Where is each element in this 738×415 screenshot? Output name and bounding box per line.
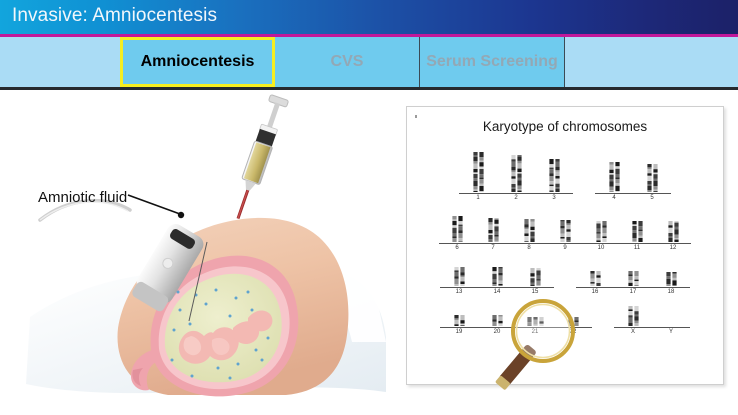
karyotype-pair-8: 8 <box>511 219 547 251</box>
karyotype-pair-13: 13 <box>440 267 478 295</box>
karyotype-pair-5: 5 <box>633 164 671 201</box>
chromosome-pair <box>473 152 484 192</box>
karyotype-panel: Karyotype of chromosomes 123456789101112… <box>406 106 724 385</box>
karyotype-baseline <box>583 243 619 244</box>
karyotype-baseline <box>595 193 633 194</box>
karyotype-baseline <box>440 287 478 288</box>
chromosome-pair <box>628 271 639 286</box>
chromosome-pair <box>492 315 503 326</box>
karyotype-number-label: X <box>631 329 635 335</box>
tab-amniocentesis-label: Amniocentesis <box>141 53 255 70</box>
karyotype-row: 131415161718 <box>407 251 723 295</box>
karyotype-baseline <box>655 243 691 244</box>
karyotype-pair-1: 1 <box>459 152 497 201</box>
chromosome-pair <box>511 155 522 192</box>
karyotype-number-label: 20 <box>494 329 501 335</box>
karyotype-baseline <box>554 327 592 328</box>
karyotype-baseline <box>475 243 511 244</box>
karyotype-number-label: Y <box>669 329 673 335</box>
chromosome-pair <box>452 216 463 242</box>
karyotype-baseline <box>511 243 547 244</box>
karyotype-pair-11: 11 <box>619 221 655 251</box>
karyotype-pair-15: 15 <box>516 268 554 295</box>
karyotype-baseline <box>633 193 671 194</box>
chromosome-pair <box>647 164 658 192</box>
tab-serum-screening-label: Serum Screening <box>426 53 558 70</box>
chromosome-pair <box>609 162 620 192</box>
karyotype-pair-14: 14 <box>478 267 516 295</box>
syringe-graphic <box>229 94 289 221</box>
karyotype-pair-9: 9 <box>547 220 583 251</box>
slide-root: Invasive: Amniocentesis Amniocentesis CV… <box>0 0 738 415</box>
chromosome-pair <box>530 268 541 286</box>
tab-cvs-label: CVS <box>331 53 364 70</box>
slide-title-bar: Invasive: Amniocentesis <box>0 0 738 34</box>
chromosome-pair <box>560 220 571 242</box>
karyotype-number-label: 22 <box>570 329 577 335</box>
karyotype-baseline <box>440 327 478 328</box>
chromosome-pair <box>666 272 677 286</box>
karyotype-baseline <box>619 243 655 244</box>
chromosome-pair <box>568 317 579 326</box>
navigation-tab-bar: Amniocentesis CVS Serum Screening <box>0 37 738 87</box>
karyotype-baseline <box>614 327 652 328</box>
karyotype-pair-3: 3 <box>535 159 573 201</box>
karyotype-baseline <box>478 287 516 288</box>
karyotype-pair-20: 20 <box>478 315 516 335</box>
karyotype-pair-19: 19 <box>440 315 478 335</box>
karyotype-row: 19202122XY <box>407 295 723 335</box>
karyotype-pair-18: 18 <box>652 272 690 295</box>
karyotype-pair-16: 16 <box>576 271 614 295</box>
chromosome-pair <box>632 221 643 242</box>
tab-serum-screening[interactable]: Serum Screening <box>420 37 565 87</box>
chromosome-pair <box>454 267 465 286</box>
tab-spacer-right <box>565 37 738 87</box>
chromosome-pair <box>549 159 560 192</box>
karyotype-baseline <box>576 287 614 288</box>
karyotype-baseline <box>516 327 554 328</box>
karyotype-row: 6789101112 <box>407 201 723 251</box>
amniotic-fluid-leader-line <box>128 195 184 218</box>
karyotype-pair-6: 6 <box>439 216 475 251</box>
karyotype-pair-2: 2 <box>497 155 535 201</box>
karyotype-baseline <box>652 287 690 288</box>
tab-bar-bottom-rule <box>0 87 738 90</box>
amniocentesis-illustration <box>0 92 400 415</box>
karyotype-pair-21: 21 <box>516 317 554 335</box>
karyotype-pair-17: 17 <box>614 271 652 295</box>
chromosome-pair <box>590 271 601 286</box>
chromosome-pair <box>596 221 607 242</box>
karyotype-baseline <box>614 287 652 288</box>
karyotype-baseline <box>459 193 497 194</box>
karyotype-rows: 12345678910111213141516171819202122XY <box>407 149 723 335</box>
chromosome-pair <box>628 306 639 326</box>
karyotype-pair-10: 10 <box>583 221 619 251</box>
tab-cvs[interactable]: CVS <box>275 37 420 87</box>
karyotype-baseline <box>547 243 583 244</box>
panel-corner-mark <box>415 115 417 118</box>
karyotype-pair-Y: Y <box>652 326 690 335</box>
karyotype-baseline <box>516 287 554 288</box>
karyotype-pair-4: 4 <box>595 162 633 201</box>
karyotype-number-label: 19 <box>456 329 463 335</box>
karyotype-row: 12345 <box>407 149 723 201</box>
karyotype-title: Karyotype of chromosomes <box>407 119 723 134</box>
chromosome-pair <box>488 218 499 242</box>
karyotype-baseline <box>497 193 535 194</box>
karyotype-baseline <box>478 327 516 328</box>
chromosome-pair <box>454 315 465 326</box>
karyotype-number-label: 21 <box>532 329 539 335</box>
karyotype-pair-X: X <box>614 306 652 335</box>
page-title: Invasive: Amniocentesis <box>12 5 217 27</box>
karyotype-pair-7: 7 <box>475 218 511 251</box>
tab-spacer-left <box>0 37 120 87</box>
karyotype-baseline <box>439 243 475 244</box>
chromosome-pair <box>527 317 544 326</box>
karyotype-pair-12: 12 <box>655 221 691 251</box>
chromosome-pair <box>524 219 535 242</box>
karyotype-baseline <box>535 193 573 194</box>
chromosome-pair <box>492 267 503 286</box>
karyotype-pair-22: 22 <box>554 317 592 335</box>
chromosome-pair <box>668 221 679 242</box>
tab-amniocentesis[interactable]: Amniocentesis <box>120 37 275 87</box>
karyotype-baseline <box>652 327 690 328</box>
amniotic-fluid-label: Amniotic fluid <box>38 189 127 206</box>
